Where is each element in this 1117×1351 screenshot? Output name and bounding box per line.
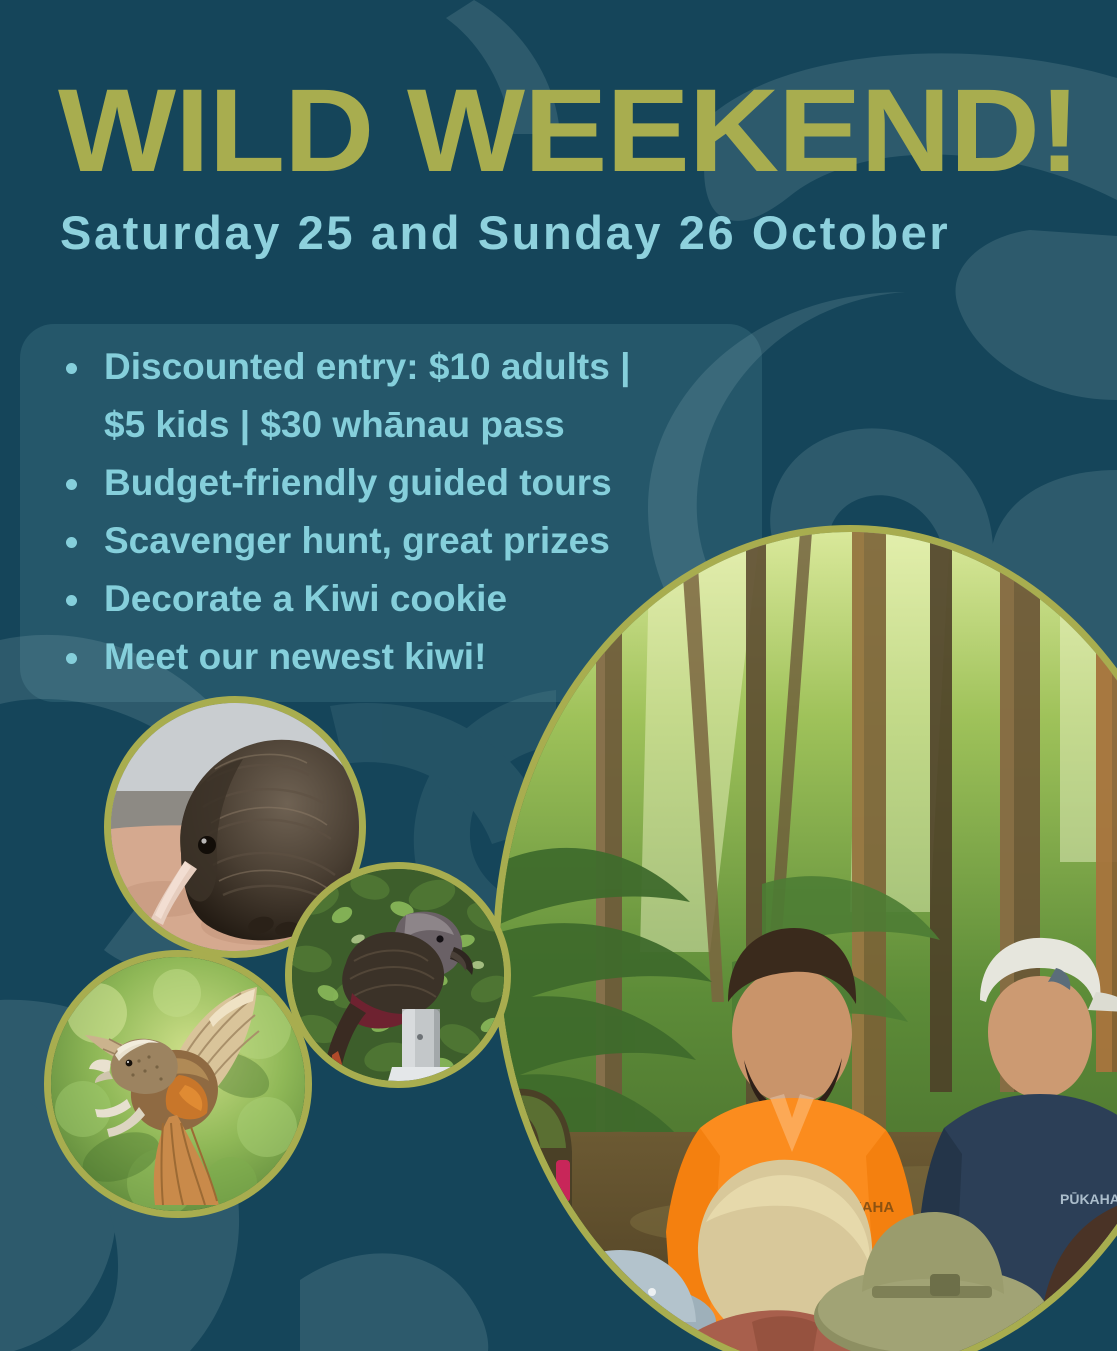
list-item: Budget-friendly guided tours xyxy=(52,454,752,512)
list-item: Discounted entry: $10 adults | $5 kids |… xyxy=(52,338,752,454)
kaka-feeder-photo xyxy=(285,862,511,1088)
svg-text:PŪKAHA: PŪKAHA xyxy=(1060,1191,1117,1207)
event-dates-subtitle: Saturday 25 and Sunday 26 October xyxy=(60,205,1100,260)
page-title: WILD WEEKEND! xyxy=(58,72,1117,190)
guided-forest-tour-photo: PŪKAHA PŪKAHA xyxy=(493,525,1117,1351)
kaka-in-flight-photo xyxy=(44,950,312,1218)
poster-canvas: WILD WEEKEND! Saturday 25 and Sunday 26 … xyxy=(0,0,1117,1351)
list-item-line: $5 kids | $30 whānau pass xyxy=(104,396,752,454)
list-item-line: Discounted entry: $10 adults | xyxy=(104,338,752,396)
list-item-line: Budget-friendly guided tours xyxy=(104,454,752,512)
